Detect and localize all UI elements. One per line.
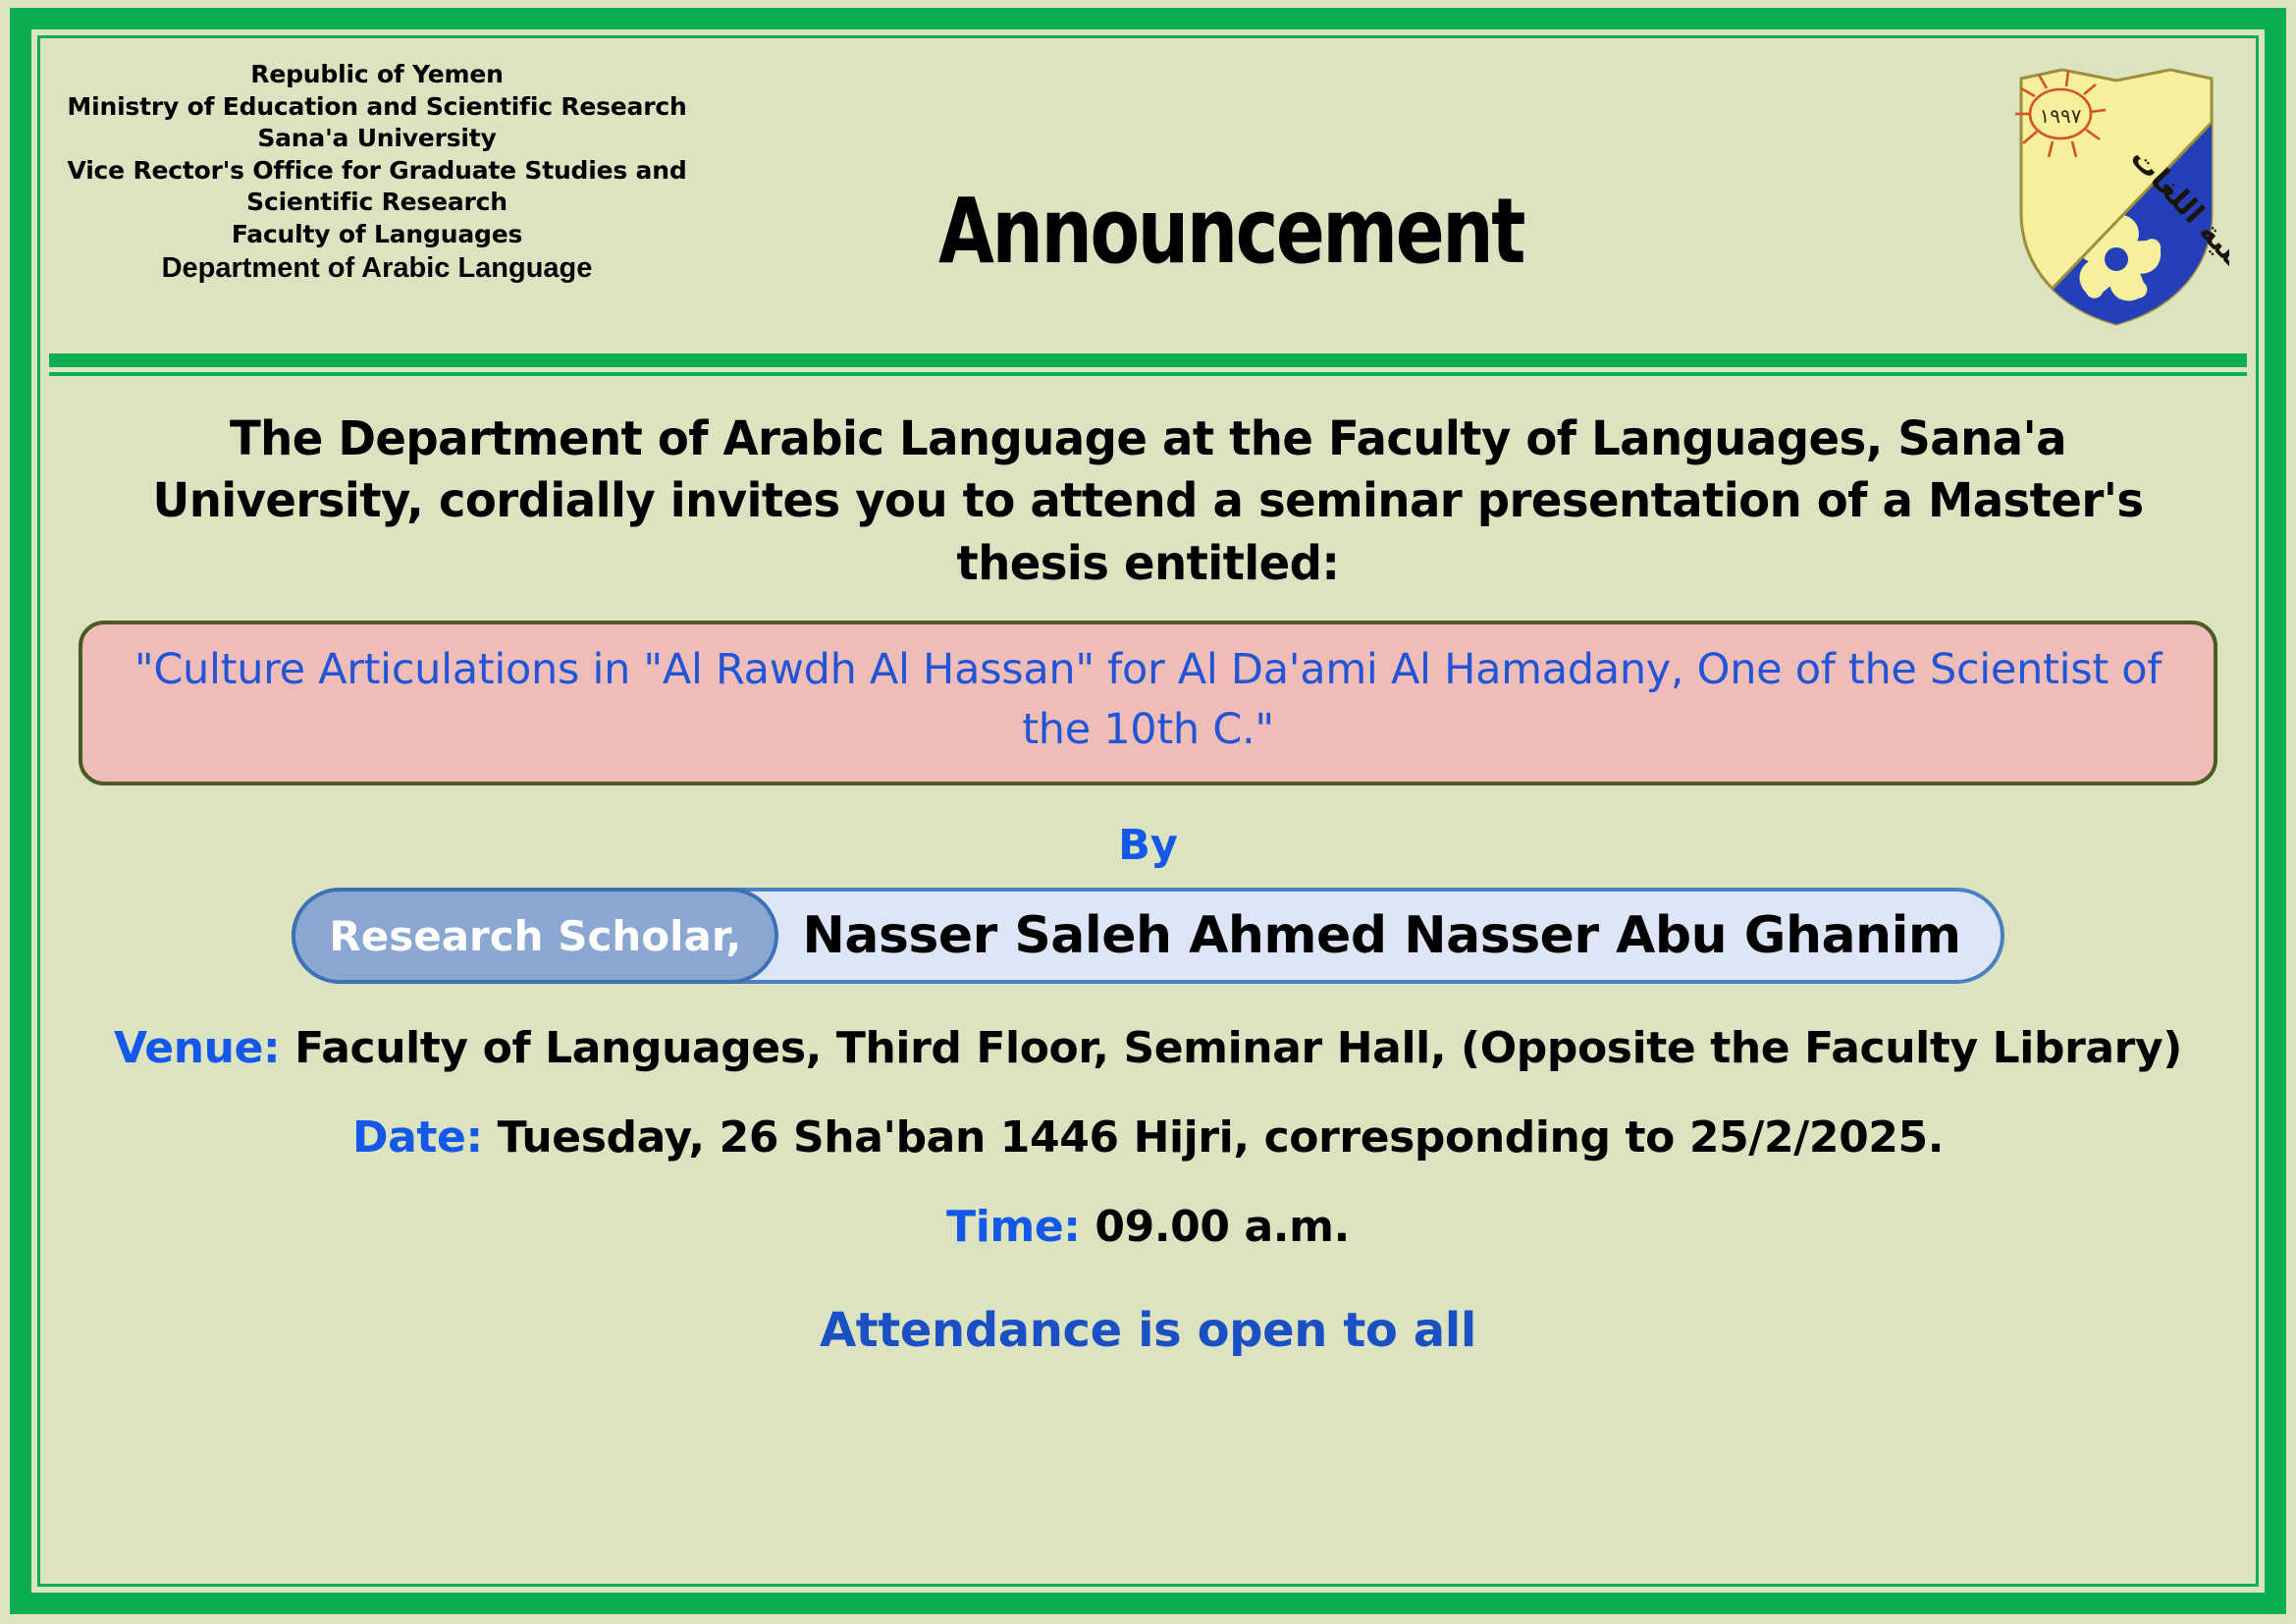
date-label: Date: [352, 1112, 483, 1163]
org-line-ministry: Ministry of Education and Scientific Res… [63, 91, 691, 124]
time-label: Time: [946, 1202, 1080, 1252]
org-line-department: Department of Arabic Language [63, 250, 691, 288]
date-value: Tuesday, 26 Sha'ban 1446 Hijri, correspo… [498, 1112, 1944, 1163]
emblem-year: ١٩٩٧ [2040, 104, 2082, 128]
org-line-university: Sana'a University [63, 123, 691, 155]
page-title: Announcement [878, 179, 1584, 284]
venue-label: Venue: [114, 1023, 280, 1073]
divider-thin-bar [49, 372, 2247, 376]
org-line-scientific-research: Scientific Research [63, 187, 691, 219]
poster-content: Republic of Yemen Ministry of Education … [43, 41, 2253, 1581]
announcement-poster: Republic of Yemen Ministry of Education … [0, 0, 2296, 1624]
poster-body: The Department of Arabic Language at the… [43, 383, 2253, 1358]
presenter-pill: Research Scholar, Nasser Saleh Ahmed Nas… [292, 888, 2003, 984]
venue-line: Venue: Faculty of Languages, Third Floor… [57, 1023, 2239, 1073]
time-line: Time: 09.00 a.m. [57, 1202, 2239, 1252]
organization-block: Republic of Yemen Ministry of Education … [63, 59, 691, 288]
presenter-row: Research Scholar, Nasser Saleh Ahmed Nas… [57, 888, 2239, 984]
thesis-title-box: "Culture Articulations in "Al Rawdh Al H… [79, 621, 2217, 785]
date-line: Date: Tuesday, 26 Sha'ban 1446 Hijri, co… [57, 1112, 2239, 1163]
presenter-role-badge: Research Scholar, [292, 888, 778, 984]
presenter-name: Nasser Saleh Ahmed Nasser Abu Ghanim [776, 892, 2000, 980]
faculty-of-languages-emblem-icon: ١٩٩٧ كلية اللغات [2003, 65, 2229, 330]
thesis-title: "Culture Articulations in "Al Rawdh Al H… [108, 640, 2188, 760]
org-line-faculty: Faculty of Languages [63, 219, 691, 251]
venue-value: Faculty of Languages, Third Floor, Semin… [294, 1023, 2182, 1073]
by-label: By [57, 821, 2239, 870]
time-value: 09.00 a.m. [1095, 1202, 1349, 1252]
lead-paragraph: The Department of Arabic Language at the… [89, 408, 2206, 595]
poster-header: Republic of Yemen Ministry of Education … [43, 41, 2253, 353]
attendance-note: Attendance is open to all [57, 1303, 2239, 1358]
header-divider [49, 353, 2247, 383]
org-line-republic: Republic of Yemen [63, 59, 691, 91]
org-line-vice-rector: Vice Rector's Office for Graduate Studie… [63, 155, 691, 188]
divider-thick-bar [49, 353, 2247, 367]
